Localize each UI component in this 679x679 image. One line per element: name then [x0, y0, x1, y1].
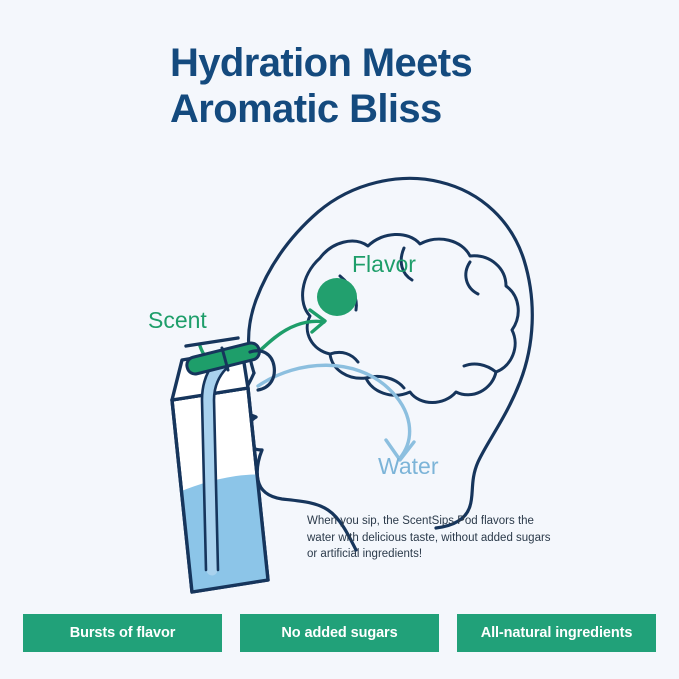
- page-title-line-1: Hydration Meets: [170, 40, 610, 86]
- page-title: Hydration Meets Aromatic Bliss: [170, 40, 610, 132]
- badge-all-natural-ingredients[interactable]: All-natural ingredients: [457, 614, 656, 652]
- page-title-line-2: Aromatic Bliss: [170, 86, 610, 132]
- label-scent: Scent: [148, 307, 207, 334]
- infographic-page: Hydration Meets Aromatic Bliss: [0, 0, 679, 679]
- caption-text: When you sip, the ScentSips Pod flavors …: [307, 513, 552, 563]
- head-profile-icon: [235, 178, 532, 550]
- label-flavor: Flavor: [352, 251, 416, 278]
- flavor-dot-icon: [317, 278, 357, 316]
- badge-no-added-sugars[interactable]: No added sugars: [240, 614, 439, 652]
- feature-badge-row: Bursts of flavor No added sugars All-nat…: [23, 614, 656, 652]
- badge-bursts-of-flavor[interactable]: Bursts of flavor: [23, 614, 222, 652]
- label-water: Water: [378, 453, 439, 480]
